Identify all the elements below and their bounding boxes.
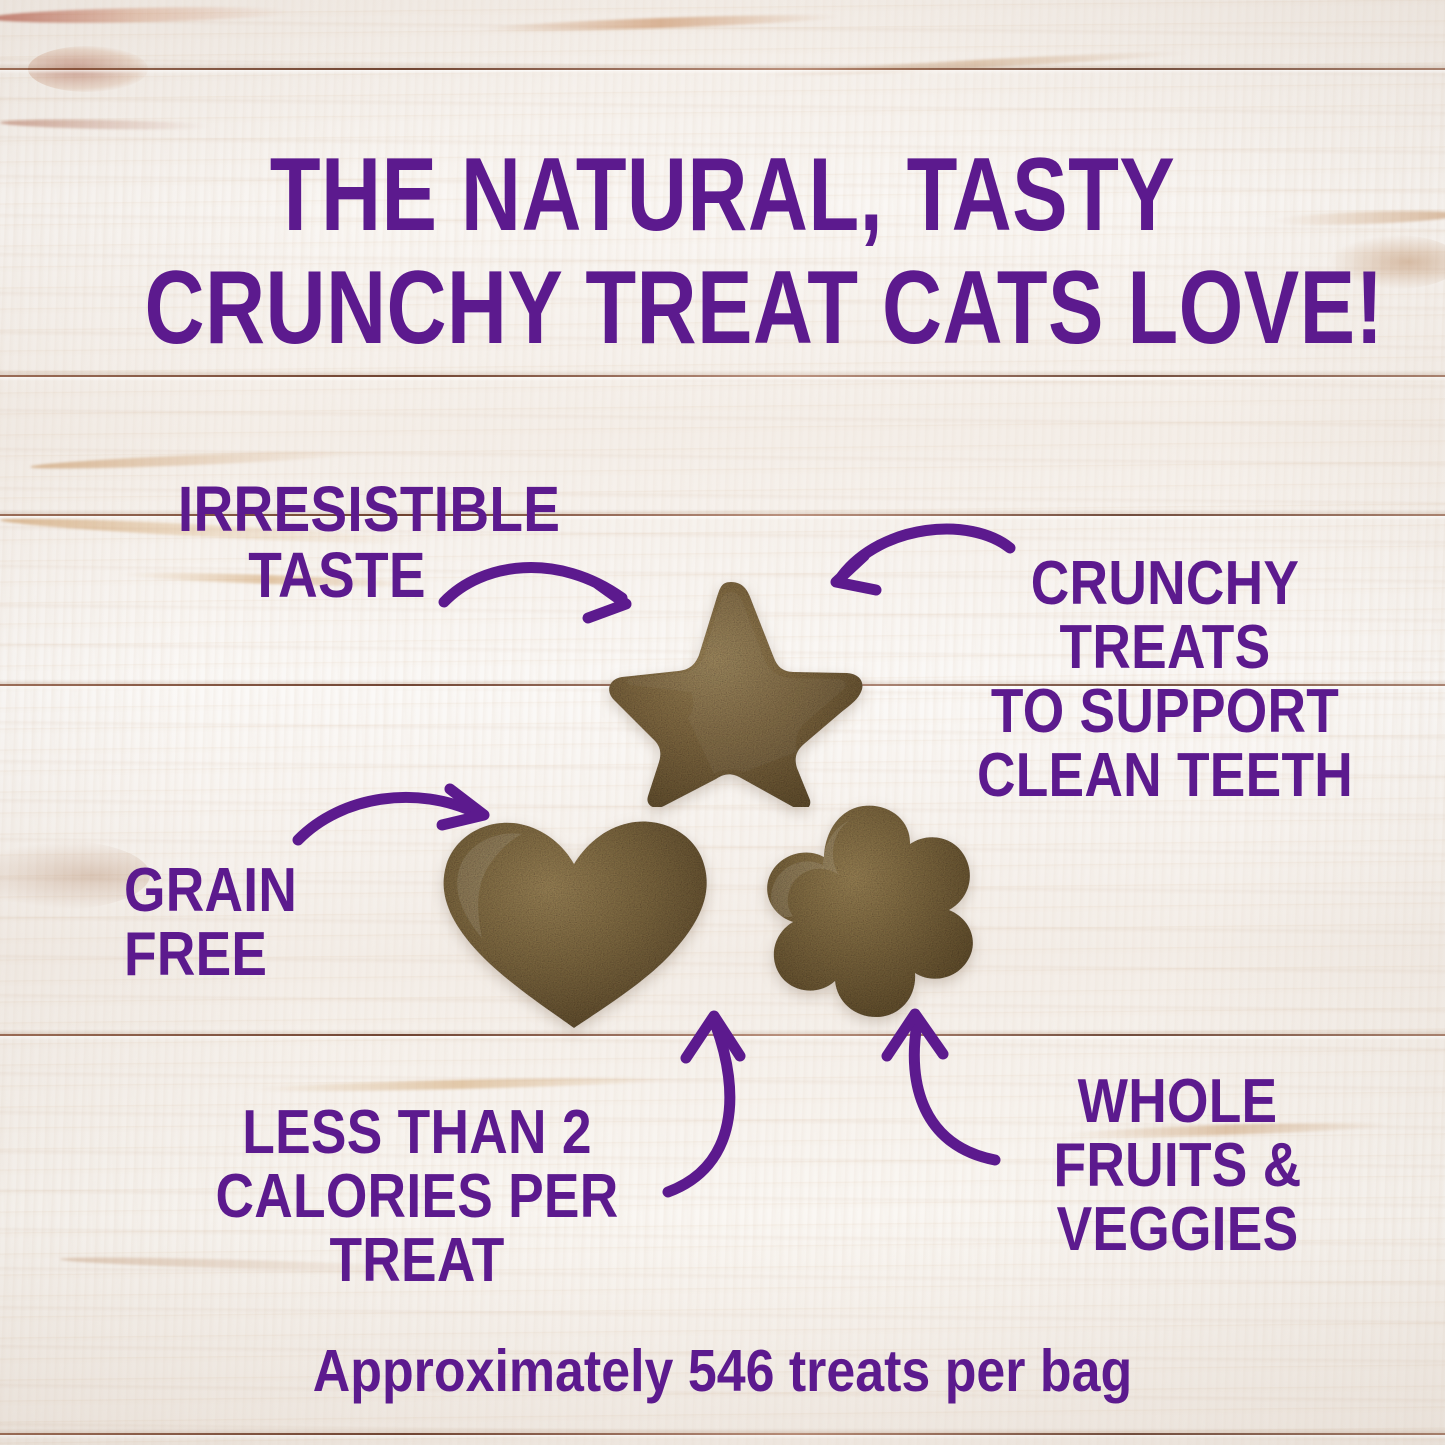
arrow-grainfree-to-heart: [290, 775, 505, 865]
callout-grain-free: GRAIN FREE: [124, 859, 382, 987]
arrow-crunchy-to-star: [820, 518, 1020, 628]
callout-whole-fruits-veggies: WHOLE FRUITS & VEGGIES: [978, 1070, 1378, 1262]
callout-less-than-2-calories: LESS THAN 2 CALORIES PER TREAT: [193, 1101, 640, 1293]
headline-line-2: CRUNCHY TREAT CATS LOVE!: [145, 256, 1301, 360]
product-feature-image: THE NATURAL, TASTY CRUNCHY TREAT CATS LO…: [0, 0, 1445, 1445]
callout-crunchy-clean-teeth: CRUNCHY TREATS TO SUPPORT CLEAN TEETH: [963, 552, 1367, 807]
treats-per-bag-note: Approximately 546 treats per bag: [87, 1337, 1359, 1405]
paw-treat: [735, 800, 985, 1030]
arrow-fruits-to-paw: [825, 1000, 1005, 1190]
arrow-taste-to-star: [430, 540, 660, 650]
headline-line-1: THE NATURAL, TASTY: [145, 143, 1301, 247]
arrow-calories-to-heart: [640, 1000, 790, 1200]
